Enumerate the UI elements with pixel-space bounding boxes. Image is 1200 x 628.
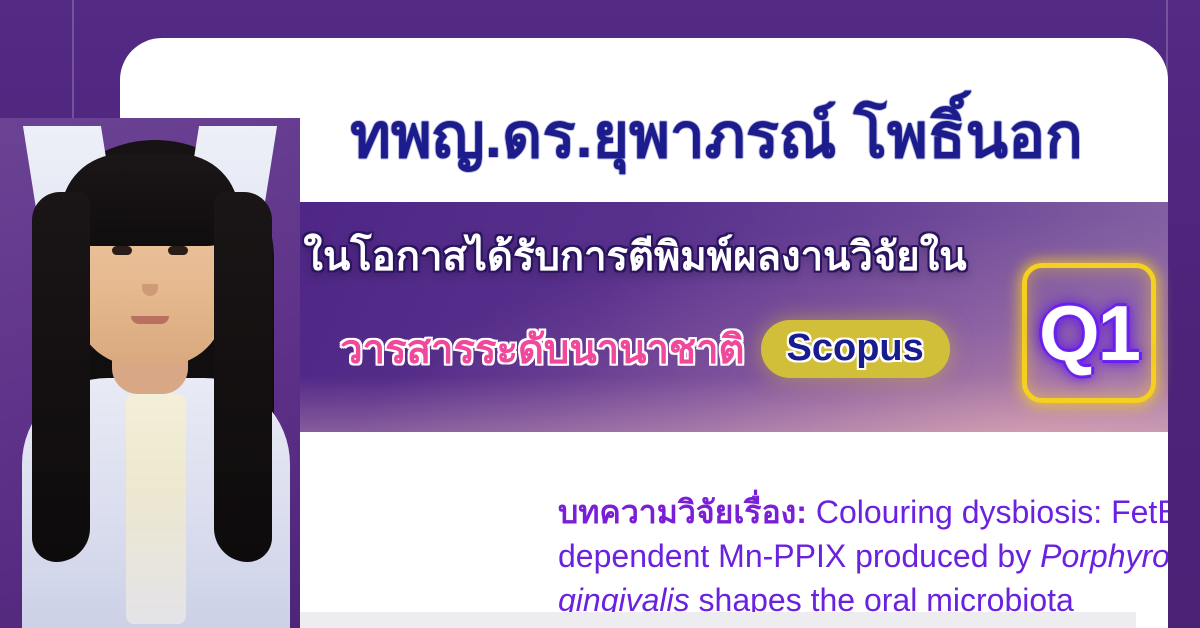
photo-hair-right (214, 192, 272, 562)
article-label: บทความวิจัยเรื่อง: (558, 494, 807, 530)
photo-hair-left (32, 192, 90, 562)
journal-text: วารสารระดับนานาชาติ (340, 317, 744, 381)
article-title-block: บทความวิจัยเรื่อง: Colouring dysbiosis: … (558, 490, 1168, 622)
top-headline-congratulations: CONGRATULATIONS (0, 0, 1200, 12)
scopus-badge: Scopus (761, 320, 950, 378)
journal-row: วารสารระดับนานาชาติ Scopus (285, 317, 1005, 381)
bottom-strip (240, 612, 1136, 628)
quartile-badge: Q1 (1022, 263, 1156, 403)
person-name: ทพญ.ดร.ยุพาภรณ์ โพธิ์นอก (265, 104, 1168, 169)
occasion-text: ในโอกาสได้รับการตีพิมพ์ผลงานวิจัยใน (285, 224, 985, 288)
banner-canvas: CONGRATULATIONS ทพญ.ดร.ยุพาภรณ์ โพธิ์นอก… (0, 0, 1200, 628)
person-photo (0, 118, 300, 628)
scopus-label: Scopus (787, 327, 924, 369)
photo-eye-right (168, 246, 188, 255)
quartile-badge-label: Q1 (1039, 294, 1139, 372)
photo-eye-left (112, 246, 132, 255)
photo-mouth (131, 316, 169, 324)
